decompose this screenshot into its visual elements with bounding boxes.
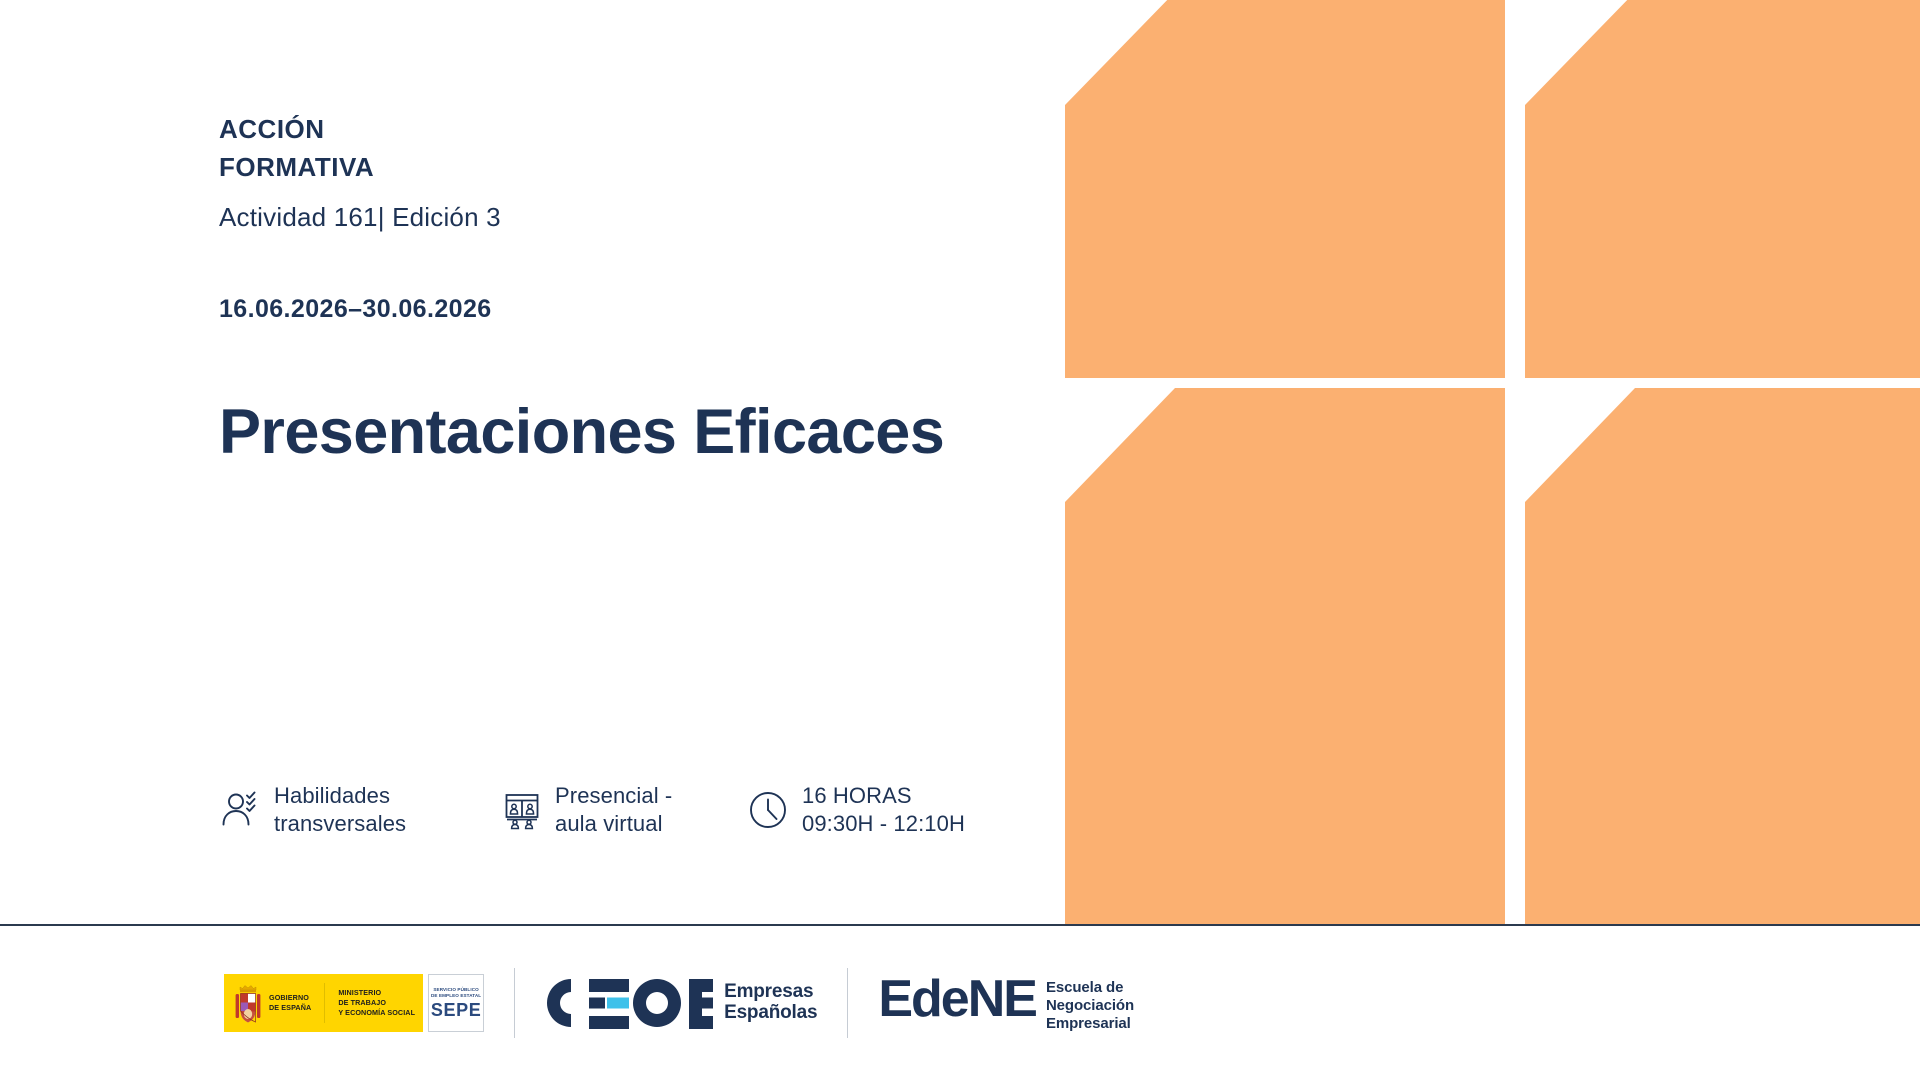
- page-title: Presentaciones Eficaces: [219, 398, 944, 467]
- gov-block-escudo: GOBIERNO DE ESPAÑA: [234, 981, 311, 1025]
- meta-text-schedule: 16 HORAS 09:30H - 12:10H: [802, 782, 965, 838]
- gov-line-economia: Y ECONOMÍA SOCIAL: [338, 1008, 415, 1018]
- ceoe-logo: Empresas Españolas: [545, 977, 817, 1029]
- meta-competency-line-2: transversales: [274, 810, 406, 838]
- person-skills-icon: [219, 789, 261, 831]
- edene-tagline: Escuela de Negociación Empresarial: [1046, 979, 1134, 1034]
- orange-pentagon-pattern: [1065, 0, 1920, 924]
- gov-line-de-espana: DE ESPAÑA: [269, 1003, 311, 1013]
- meta-modality-line-1: Presencial -: [555, 782, 672, 810]
- sepe-acronym: SEPE: [431, 1001, 481, 1019]
- pentagon-bottom-right: [1525, 388, 1920, 924]
- gov-line-de-trabajo: DE TRABAJO: [338, 998, 415, 1008]
- kicker-line-2: FORMATIVA: [219, 148, 374, 186]
- meta-text-competency: Habilidades transversales: [274, 782, 406, 838]
- meta-text-modality: Presencial - aula virtual: [555, 782, 672, 838]
- footer-logo-group: GOBIERNO DE ESPAÑA MINISTERIO DE TRABAJO…: [224, 968, 1134, 1038]
- kicker-line-1: ACCIÓN: [219, 114, 325, 144]
- coat-of-arms-icon: [234, 981, 262, 1025]
- meta-modality-line-2: aula virtual: [555, 810, 672, 838]
- ceoe-tag-line-1: Empresas: [724, 982, 817, 1003]
- edene-wordmark: EdeNE: [878, 973, 1036, 1025]
- footer-bar: GOBIERNO DE ESPAÑA MINISTERIO DE TRABAJO…: [0, 926, 1920, 1080]
- meta-schedule-line-2: 09:30H - 12:10H: [802, 810, 965, 838]
- pentagon-bottom-left: [1065, 388, 1505, 924]
- pattern-svg: [1065, 0, 1920, 924]
- date-range: 16.06.2026–30.06.2026: [219, 295, 492, 324]
- edene-tag-line-1: Escuela de: [1046, 979, 1134, 997]
- footer-separator-1: [514, 968, 515, 1038]
- gov-text-espana: GOBIERNO DE ESPAÑA: [269, 993, 311, 1012]
- meta-item-modality: Presencial - aula virtual: [502, 782, 747, 838]
- footer-separator-2: [847, 968, 848, 1038]
- sepe-subtitle: SERVICIO PÚBLICO DE EMPLEO ESTATAL: [431, 987, 481, 999]
- edene-tag-line-3: Empresarial: [1046, 1015, 1134, 1033]
- gov-text-ministerio: MINISTERIO DE TRABAJO Y ECONOMÍA SOCIAL: [338, 988, 415, 1017]
- sepe-line-2: DE EMPLEO ESTATAL: [431, 993, 481, 999]
- meta-schedule-line-1: 16 HORAS: [802, 782, 965, 810]
- kicker-heading: ACCIÓN FORMATIVA: [219, 110, 374, 187]
- gov-line-gobierno: GOBIERNO: [269, 993, 311, 1003]
- gov-line-ministerio: MINISTERIO: [338, 988, 415, 998]
- clock-icon: [747, 789, 789, 831]
- content-column: ACCIÓN FORMATIVA Actividad 161| Edición …: [219, 0, 1049, 924]
- gov-yellow-band: GOBIERNO DE ESPAÑA MINISTERIO DE TRABAJO…: [224, 974, 423, 1032]
- virtual-classroom-icon: [502, 790, 542, 830]
- meta-item-schedule: 16 HORAS 09:30H - 12:10H: [747, 782, 1007, 838]
- activity-subtitle: Actividad 161| Edición 3: [219, 202, 501, 233]
- pentagon-top-right: [1525, 0, 1920, 378]
- meta-item-competency: Habilidades transversales: [219, 782, 502, 838]
- ceoe-tag-line-2: Españolas: [724, 1003, 817, 1024]
- meta-row: Habilidades transversales: [219, 782, 1007, 838]
- sepe-logo: SERVICIO PÚBLICO DE EMPLEO ESTATAL SEPE: [428, 974, 484, 1032]
- gobierno-de-espana-logo: GOBIERNO DE ESPAÑA MINISTERIO DE TRABAJO…: [224, 974, 484, 1032]
- ceoe-tagline: Empresas Españolas: [724, 982, 817, 1024]
- edene-logo: EdeNE Escuela de Negociación Empresarial: [878, 973, 1134, 1034]
- poster-canvas: ACCIÓN FORMATIVA Actividad 161| Edición …: [0, 0, 1920, 1080]
- pentagon-top-left: [1065, 0, 1505, 378]
- ceoe-wordmark-icon: [545, 977, 713, 1029]
- meta-competency-line-1: Habilidades: [274, 782, 406, 810]
- edene-tag-line-2: Negociación: [1046, 997, 1134, 1015]
- gov-divider: [324, 983, 325, 1023]
